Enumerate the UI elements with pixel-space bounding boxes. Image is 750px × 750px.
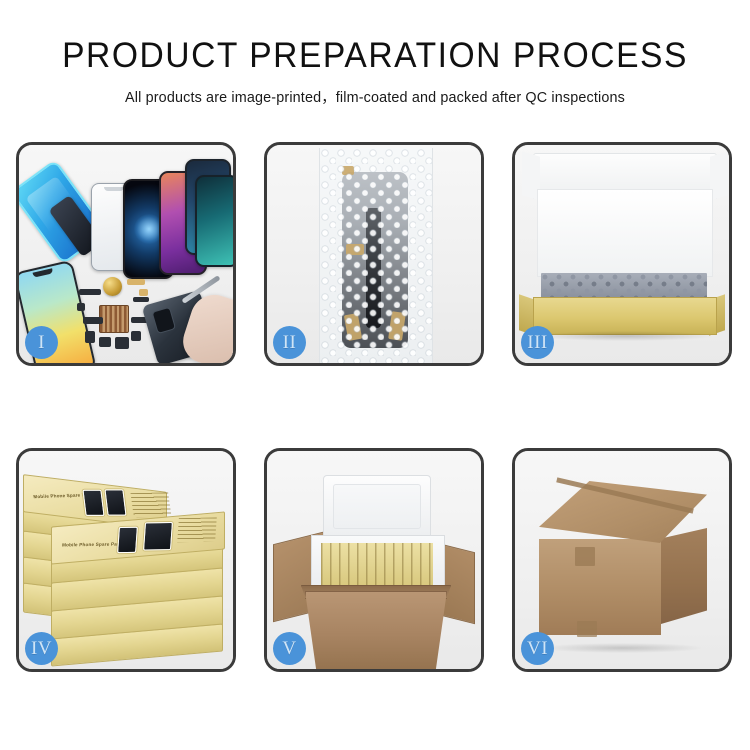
chip-grid-icon [99, 305, 129, 333]
step-badge-5: V [273, 632, 306, 665]
step-badge-6: VI [521, 632, 554, 665]
component-icon [133, 297, 149, 302]
carton-side-face [661, 528, 707, 624]
box-window-icon [117, 527, 138, 553]
step-badge-4: IV [25, 632, 58, 665]
carton-tab-icon [575, 547, 595, 566]
drop-shadow [543, 643, 703, 653]
phone-screen-icon-4 [195, 175, 236, 267]
component-icon [77, 303, 85, 311]
bubble-wrap-bag-icon [319, 148, 433, 366]
retail-box-label: Mobile Phone Spare Parts [62, 541, 124, 547]
component-icon [83, 317, 103, 324]
component-icon [115, 337, 129, 349]
component-icon [131, 331, 141, 341]
step-badge-3: III [521, 326, 554, 359]
box-spec-lines-icon [177, 517, 217, 542]
box-window-icon [82, 490, 104, 516]
yellow-boxes-icon [321, 543, 433, 585]
process-step-panel-2[interactable]: II [264, 142, 484, 366]
process-step-panel-6[interactable]: VI [512, 448, 732, 672]
speaker-coil-icon [103, 277, 122, 296]
process-step-panel-3[interactable]: III [512, 142, 732, 366]
box-window-icon [104, 489, 126, 515]
page-subtitle: All products are image-printed，film-coat… [6, 86, 745, 107]
component-icon [85, 331, 95, 343]
connector-icon [127, 279, 145, 285]
process-step-grid: I II III [16, 142, 734, 672]
step-badge-2: II [273, 326, 306, 359]
component-icon [99, 337, 111, 347]
box-spec-lines-icon [131, 492, 172, 517]
carton-tab-icon [577, 621, 597, 637]
connector-icon [139, 289, 148, 296]
box-window-icon [143, 522, 173, 551]
retail-box-stack: Mobile Phone Spare Parts Mobile Phone Sp… [21, 461, 233, 661]
bubble-texture-icon [320, 148, 432, 366]
yellow-tray-icon [533, 297, 717, 335]
white-liner-icon [537, 189, 713, 277]
step-badge-1: I [25, 326, 58, 359]
carton-body-icon [305, 591, 447, 671]
process-step-panel-5[interactable]: V [264, 448, 484, 672]
page-header: PRODUCT PREPARATION PROCESS All products… [0, 0, 750, 107]
page-title: PRODUCT PREPARATION PROCESS [15, 38, 735, 75]
process-step-panel-4[interactable]: Mobile Phone Spare Parts Mobile Phone Sp… [16, 448, 236, 672]
component-icon [79, 289, 101, 295]
process-step-panel-1[interactable]: I [16, 142, 236, 366]
carton-front-face [539, 539, 661, 635]
carton-top-face [539, 481, 707, 543]
drop-shadow [537, 331, 713, 341]
foam-lid-icon [323, 475, 431, 539]
